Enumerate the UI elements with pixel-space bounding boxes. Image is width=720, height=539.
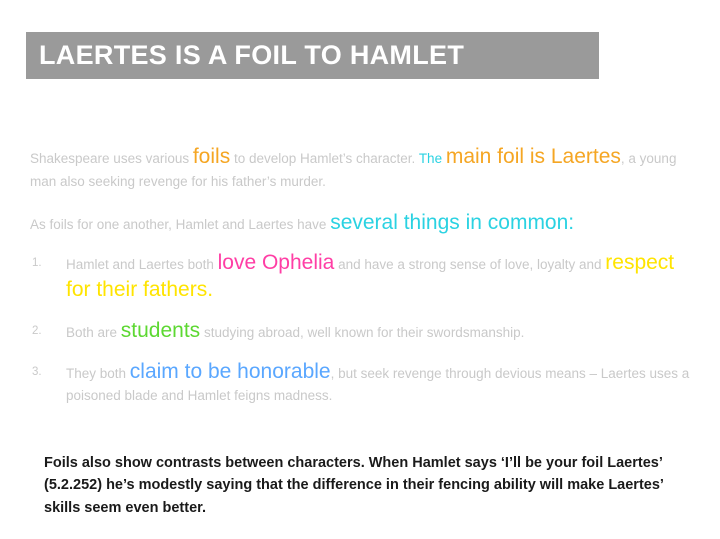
paragraph-common: As foils for one another, Hamlet and Lae… bbox=[30, 210, 690, 237]
item1-text-1: Hamlet and Laertes both bbox=[66, 257, 218, 272]
item2-emphasis-students: students bbox=[121, 319, 200, 342]
list-item: 3. They both claim to be honorable, but … bbox=[30, 359, 690, 407]
list-item: 2. Both are students studying abroad, we… bbox=[30, 318, 690, 344]
common-emphasis: several things in common: bbox=[330, 211, 574, 234]
item1-emphasis-ophelia: love Ophelia bbox=[218, 251, 335, 274]
common-text-1: As foils for one another, Hamlet and Lae… bbox=[30, 217, 330, 232]
list-item-number: 2. bbox=[32, 322, 42, 340]
list-item: 1. Hamlet and Laertes both love Ophelia … bbox=[30, 250, 690, 303]
list-item-number: 3. bbox=[32, 363, 42, 381]
item2-text-2: studying abroad, well known for their sw… bbox=[200, 325, 524, 340]
item1-text-2: and have a strong sense of love, loyalty… bbox=[334, 257, 605, 272]
intro-text-1: Shakespeare uses various bbox=[30, 151, 193, 166]
intro-text-the: The bbox=[419, 151, 446, 166]
item2-text-1: Both are bbox=[66, 325, 121, 340]
list-item-number: 1. bbox=[32, 254, 42, 272]
item3-text-1: They both bbox=[66, 366, 130, 381]
intro-emphasis-main-foil: main foil is Laertes bbox=[446, 145, 621, 168]
numbered-list: 1. Hamlet and Laertes both love Ophelia … bbox=[30, 250, 690, 407]
title-bar: LAERTES IS A FOIL TO HAMLET bbox=[26, 32, 599, 79]
intro-emphasis-foils: foils bbox=[193, 145, 230, 168]
slide: LAERTES IS A FOIL TO HAMLET Shakespeare … bbox=[0, 0, 720, 539]
slide-body: Shakespeare uses various foils to develo… bbox=[30, 130, 690, 422]
intro-text-2: to develop Hamlet’s character. bbox=[230, 151, 419, 166]
page-title: LAERTES IS A FOIL TO HAMLET bbox=[26, 40, 464, 71]
item1-text-3: . bbox=[207, 278, 213, 301]
footnote: Foils also show contrasts between charac… bbox=[44, 452, 669, 519]
item3-emphasis-honorable: claim to be honorable bbox=[130, 360, 331, 383]
paragraph-intro: Shakespeare uses various foils to develo… bbox=[30, 144, 690, 194]
